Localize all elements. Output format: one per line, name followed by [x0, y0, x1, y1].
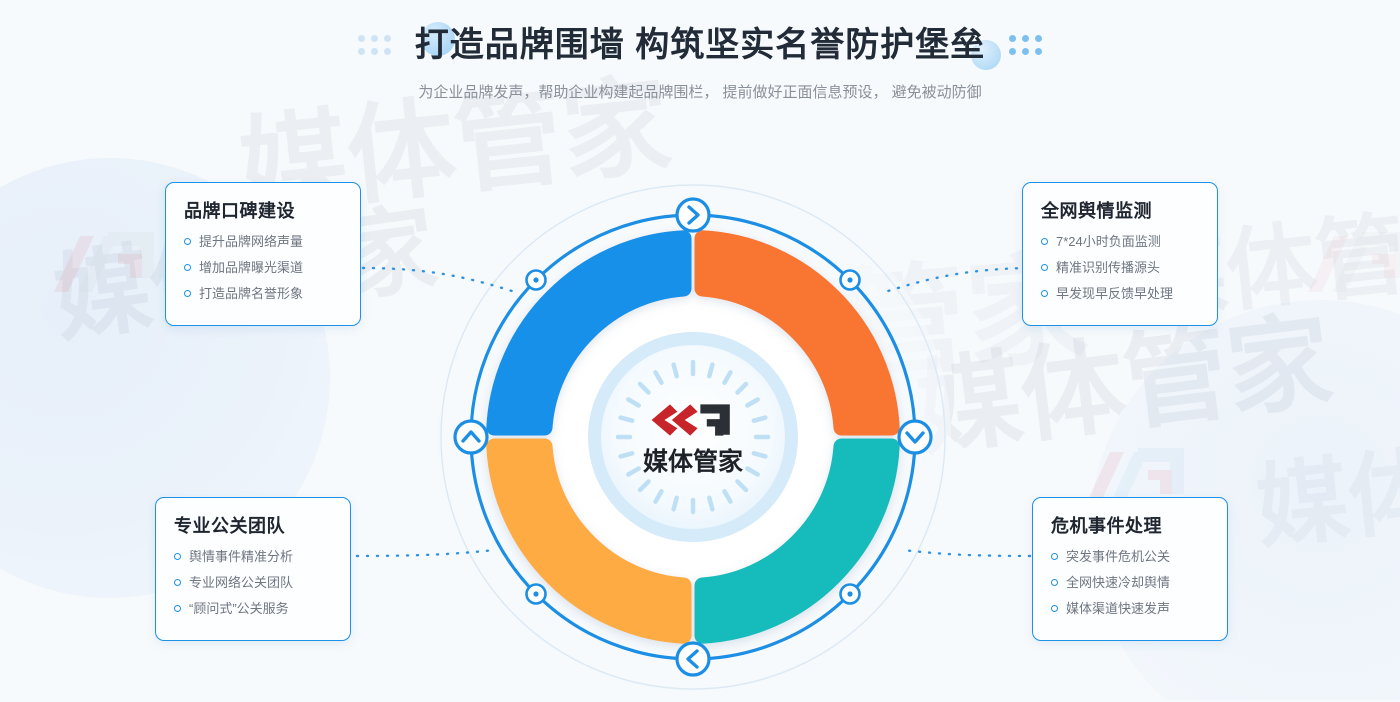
- card-title: 全网舆情监测: [1041, 197, 1201, 223]
- card-list-item: 全网快速冷却舆情: [1051, 574, 1211, 591]
- card-list-item: 突发事件危机公关: [1051, 548, 1211, 565]
- card-list-item: 提升品牌网络声量: [184, 233, 344, 250]
- card-list-item: 专业网络公关团队: [174, 574, 334, 591]
- connector-top-right: [888, 268, 1037, 291]
- card-list-item: “顾问式”公关服务: [174, 600, 334, 617]
- connector-bottom-right: [903, 550, 1030, 556]
- info-card-crisis-handling[interactable]: 危机事件处理 突发事件危机公关 全网快速冷却舆情 媒体渠道快速发声: [1032, 497, 1228, 641]
- card-title: 品牌口碑建设: [184, 197, 344, 223]
- card-list-item: 7*24小时负面监测: [1041, 233, 1201, 250]
- card-item-list: 舆情事件精准分析 专业网络公关团队 “顾问式”公关服务: [174, 548, 334, 617]
- card-list-item: 精准识别传播源头: [1041, 259, 1201, 276]
- info-card-brand-reputation[interactable]: 品牌口碑建设 提升品牌网络声量 增加品牌曝光渠道 打造品牌名誉形象: [165, 182, 361, 326]
- card-list-item: 打造品牌名誉形象: [184, 285, 344, 302]
- card-list-item: 媒体渠道快速发声: [1051, 600, 1211, 617]
- info-card-public-opinion[interactable]: 全网舆情监测 7*24小时负面监测 精准识别传播源头 早发现早反馈早处理: [1022, 182, 1218, 326]
- card-title: 危机事件处理: [1051, 512, 1211, 538]
- card-list-item: 早发现早反馈早处理: [1041, 285, 1201, 302]
- connector-bottom-left: [357, 550, 494, 556]
- card-item-list: 提升品牌网络声量 增加品牌曝光渠道 打造品牌名誉形象: [184, 233, 344, 302]
- connector-top-left: [363, 268, 512, 291]
- card-item-list: 7*24小时负面监测 精准识别传播源头 早发现早反馈早处理: [1041, 233, 1201, 302]
- card-list-item: 舆情事件精准分析: [174, 548, 334, 565]
- info-card-pr-team[interactable]: 专业公关团队 舆情事件精准分析 专业网络公关团队 “顾问式”公关服务: [155, 497, 351, 641]
- card-title: 专业公关团队: [174, 512, 334, 538]
- card-list-item: 增加品牌曝光渠道: [184, 259, 344, 276]
- card-item-list: 突发事件危机公关 全网快速冷却舆情 媒体渠道快速发声: [1051, 548, 1211, 617]
